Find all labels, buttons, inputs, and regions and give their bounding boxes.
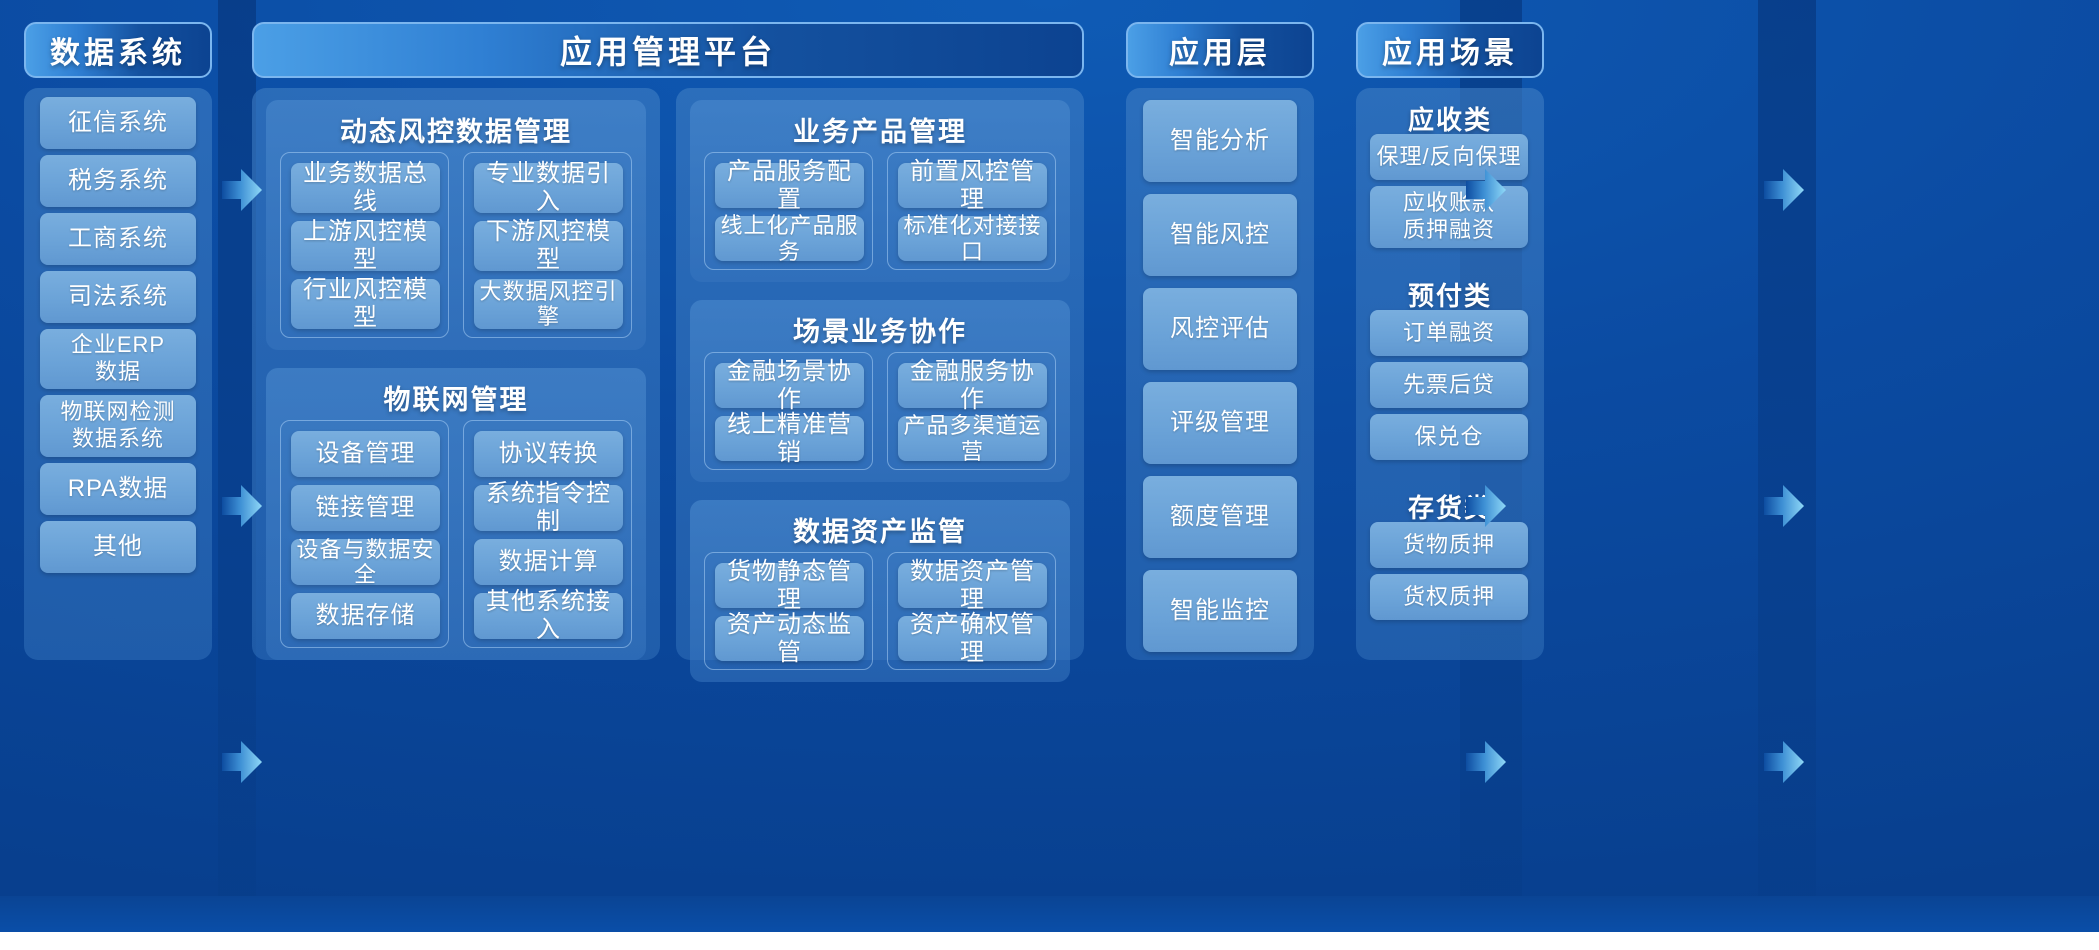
bottom-white-strip bbox=[0, 932, 2099, 950]
group-3-item-1-1[interactable]: 产品多渠道运营 bbox=[898, 416, 1047, 461]
app-layer-item-1[interactable]: 智能风控 bbox=[1143, 194, 1297, 276]
data-system-item-0[interactable]: 征信系统 bbox=[40, 97, 196, 149]
group-title-4: 数据资产监管 bbox=[690, 510, 1070, 549]
column-header-app-layer: 应用层 bbox=[1126, 22, 1314, 78]
group-4-item-0-1[interactable]: 资产动态监管 bbox=[715, 616, 864, 661]
scenario-item-1-1[interactable]: 先票后贷 bbox=[1370, 362, 1528, 408]
subbox-2-0: 产品服务配置线上化产品服务 bbox=[704, 152, 873, 270]
subbox-4-1: 数据资产管理资产确权管理 bbox=[887, 552, 1056, 670]
subbox-2-1: 前置风控管理标准化对接接口 bbox=[887, 152, 1056, 270]
group-0-item-0-0[interactable]: 业务数据总线 bbox=[291, 163, 440, 213]
group-2: 业务产品管理产品服务配置线上化产品服务前置风控管理标准化对接接口 bbox=[690, 100, 1070, 282]
scenario-category-title-0: 应收类 bbox=[1356, 100, 1544, 137]
group-1: 物联网管理设备管理链接管理设备与数据安全数据存储协议转换系统指令控制数据计算其他… bbox=[266, 368, 646, 660]
scenario-item-2-0[interactable]: 货物质押 bbox=[1370, 522, 1528, 568]
app-layer-item-2[interactable]: 风控评估 bbox=[1143, 288, 1297, 370]
subbox-3-1: 金融服务协作产品多渠道运营 bbox=[887, 352, 1056, 470]
arrow-right-icon bbox=[1764, 168, 1804, 212]
subbox-0-0: 业务数据总线上游风控模型行业风控模型 bbox=[280, 152, 449, 338]
column-header-app-scenario-label: 应用场景 bbox=[1382, 28, 1518, 72]
group-1-item-1-1[interactable]: 系统指令控制 bbox=[474, 485, 623, 531]
arrow-right-icon bbox=[1466, 740, 1506, 784]
data-system-item-7[interactable]: 其他 bbox=[40, 521, 196, 573]
arrow-right-icon bbox=[1466, 168, 1506, 212]
group-0-item-0-2[interactable]: 行业风控模型 bbox=[291, 279, 440, 329]
arrow-right-icon bbox=[222, 484, 262, 528]
arrow-right-icon bbox=[222, 740, 262, 784]
column-header-data-system: 数据系统 bbox=[24, 22, 212, 78]
group-0: 动态风控数据管理业务数据总线上游风控模型行业风控模型专业数据引入下游风控模型大数… bbox=[266, 100, 646, 350]
app-layer-item-5[interactable]: 智能监控 bbox=[1143, 570, 1297, 652]
group-3-item-1-0[interactable]: 金融服务协作 bbox=[898, 363, 1047, 408]
group-0-item-0-1[interactable]: 上游风控模型 bbox=[291, 221, 440, 271]
group-1-item-1-2[interactable]: 数据计算 bbox=[474, 539, 623, 585]
data-system-item-4[interactable]: 企业ERP数据 bbox=[40, 329, 196, 389]
group-1-item-0-0[interactable]: 设备管理 bbox=[291, 431, 440, 477]
group-4-item-0-0[interactable]: 货物静态管理 bbox=[715, 563, 864, 608]
column-header-data-system-label: 数据系统 bbox=[50, 28, 186, 72]
arrow-right-icon bbox=[1466, 484, 1506, 528]
gap-strip-1 bbox=[218, 0, 256, 950]
group-0-item-1-2[interactable]: 大数据风控引擎 bbox=[474, 279, 623, 329]
data-system-item-5[interactable]: 物联网检测数据系统 bbox=[40, 395, 196, 457]
scenario-category-title-2: 存货类 bbox=[1356, 488, 1544, 525]
scenario-category-title-1: 预付类 bbox=[1356, 276, 1544, 313]
group-3: 场景业务协作金融场景协作线上精准营销金融服务协作产品多渠道运营 bbox=[690, 300, 1070, 482]
data-system-item-6[interactable]: RPA数据 bbox=[40, 463, 196, 515]
group-title-0: 动态风控数据管理 bbox=[266, 110, 646, 149]
subbox-4-0: 货物静态管理资产动态监管 bbox=[704, 552, 873, 670]
bottom-band bbox=[0, 896, 2099, 932]
group-4-item-1-0[interactable]: 数据资产管理 bbox=[898, 563, 1047, 608]
app-layer-item-0[interactable]: 智能分析 bbox=[1143, 100, 1297, 182]
scenario-item-1-2[interactable]: 保兑仓 bbox=[1370, 414, 1528, 460]
group-3-item-0-0[interactable]: 金融场景协作 bbox=[715, 363, 864, 408]
group-2-item-0-1[interactable]: 线上化产品服务 bbox=[715, 216, 864, 261]
column-header-platform-label: 应用管理平台 bbox=[560, 27, 776, 73]
scenario-item-1-0[interactable]: 订单融资 bbox=[1370, 310, 1528, 356]
arrow-right-icon bbox=[1764, 740, 1804, 784]
group-1-item-1-3[interactable]: 其他系统接入 bbox=[474, 593, 623, 639]
gap-strip-3 bbox=[1758, 0, 1816, 950]
subbox-3-0: 金融场景协作线上精准营销 bbox=[704, 352, 873, 470]
group-1-item-0-2[interactable]: 设备与数据安全 bbox=[291, 539, 440, 585]
group-4-item-1-1[interactable]: 资产确权管理 bbox=[898, 616, 1047, 661]
group-title-1: 物联网管理 bbox=[266, 378, 646, 417]
data-system-item-2[interactable]: 工商系统 bbox=[40, 213, 196, 265]
group-title-3: 场景业务协作 bbox=[690, 310, 1070, 349]
arrow-right-icon bbox=[222, 168, 262, 212]
data-system-item-3[interactable]: 司法系统 bbox=[40, 271, 196, 323]
column-header-platform: 应用管理平台 bbox=[252, 22, 1084, 78]
data-system-item-1[interactable]: 税务系统 bbox=[40, 155, 196, 207]
subbox-1-0: 设备管理链接管理设备与数据安全数据存储 bbox=[280, 420, 449, 648]
group-1-item-0-3[interactable]: 数据存储 bbox=[291, 593, 440, 639]
group-1-item-0-1[interactable]: 链接管理 bbox=[291, 485, 440, 531]
group-0-item-1-1[interactable]: 下游风控模型 bbox=[474, 221, 623, 271]
group-2-item-1-1[interactable]: 标准化对接接口 bbox=[898, 216, 1047, 261]
group-1-item-1-0[interactable]: 协议转换 bbox=[474, 431, 623, 477]
scenario-item-2-1[interactable]: 货权质押 bbox=[1370, 574, 1528, 620]
app-layer-item-3[interactable]: 评级管理 bbox=[1143, 382, 1297, 464]
group-4: 数据资产监管货物静态管理资产动态监管数据资产管理资产确权管理 bbox=[690, 500, 1070, 682]
subbox-1-1: 协议转换系统指令控制数据计算其他系统接入 bbox=[463, 420, 632, 648]
group-0-item-1-0[interactable]: 专业数据引入 bbox=[474, 163, 623, 213]
app-layer-item-4[interactable]: 额度管理 bbox=[1143, 476, 1297, 558]
column-header-app-scenario: 应用场景 bbox=[1356, 22, 1544, 78]
arrow-right-icon bbox=[1764, 484, 1804, 528]
architecture-diagram: 数据系统 征信系统税务系统工商系统司法系统企业ERP数据物联网检测数据系统RPA… bbox=[0, 0, 2099, 950]
group-2-item-0-0[interactable]: 产品服务配置 bbox=[715, 163, 864, 208]
column-header-app-layer-label: 应用层 bbox=[1169, 28, 1271, 72]
group-2-item-1-0[interactable]: 前置风控管理 bbox=[898, 163, 1047, 208]
subbox-0-1: 专业数据引入下游风控模型大数据风控引擎 bbox=[463, 152, 632, 338]
group-3-item-0-1[interactable]: 线上精准营销 bbox=[715, 416, 864, 461]
group-title-2: 业务产品管理 bbox=[690, 110, 1070, 149]
